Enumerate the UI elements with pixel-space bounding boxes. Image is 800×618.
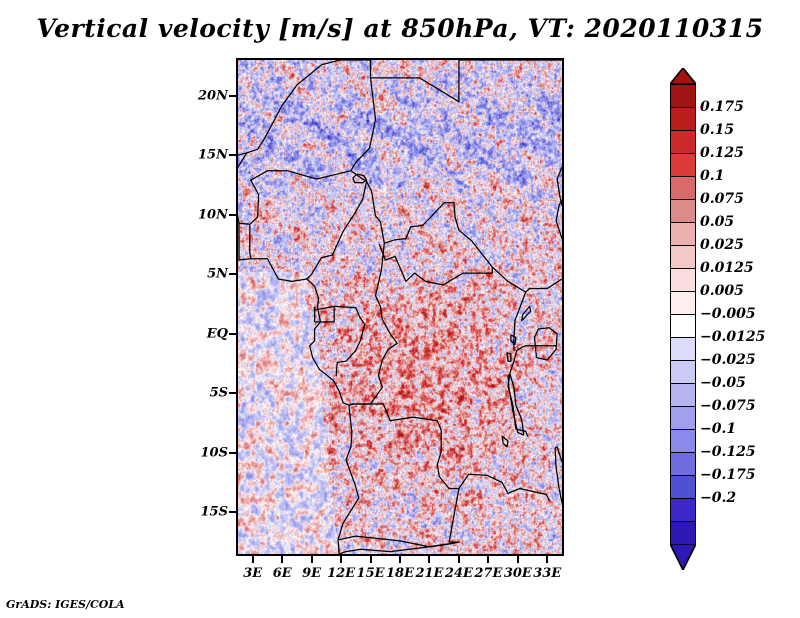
lat-tick-label: 5S [210, 386, 228, 401]
colorbar-swatch [670, 314, 696, 339]
colorbar-bottom-arrow [670, 544, 696, 570]
colorbar-label: 0.005 [700, 283, 744, 299]
lat-tick-label: EQ [207, 326, 228, 341]
lat-tick [229, 392, 236, 394]
page-title: Vertical velocity [m/s] at 850hPa, VT: 2… [0, 14, 800, 43]
colorbar-swatch [670, 383, 696, 408]
colorbar-label: 0.1 [700, 168, 724, 184]
colorbar-label: −0.025 [700, 352, 756, 368]
lon-tick [428, 556, 430, 563]
lon-tick [487, 556, 489, 563]
lon-tick-label: 24E [445, 566, 473, 581]
lon-tick-label: 21E [415, 566, 443, 581]
lon-tick-label: 12E [327, 566, 355, 581]
colorbar-swatch [670, 130, 696, 155]
colorbar-swatch [670, 498, 696, 523]
lat-tick [229, 333, 236, 335]
colorbar-swatch [670, 199, 696, 224]
grads-footer: GrADS: IGES/COLA [6, 598, 125, 611]
lon-tick [546, 556, 548, 563]
lon-tick [458, 556, 460, 563]
colorbar-label: −0.1 [700, 421, 736, 437]
colorbar-label: −0.175 [700, 467, 756, 483]
colorbar-swatch [670, 107, 696, 132]
colorbar-label: 0.025 [700, 237, 744, 253]
lon-tick-label: 18E [386, 566, 414, 581]
lat-tick [229, 511, 236, 513]
lon-tick [252, 556, 254, 563]
lon-tick-label: 33E [533, 566, 561, 581]
colorbar-swatch [670, 452, 696, 477]
lon-tick [517, 556, 519, 563]
lon-tick-label: 6E [273, 566, 292, 581]
lat-tick-label: 5N [207, 267, 228, 282]
lat-tick [229, 95, 236, 97]
lon-tick-label: 9E [302, 566, 321, 581]
colorbar-top-arrow [670, 68, 696, 85]
colorbar-swatch [670, 429, 696, 454]
colorbar-swatch [670, 475, 696, 500]
lon-tick [340, 556, 342, 563]
colorbar-label: 0.05 [700, 214, 734, 230]
lat-tick-label: 10N [198, 207, 228, 222]
lat-tick-label: 20N [198, 88, 228, 103]
map-plot-area [236, 58, 564, 556]
colorbar-label: 0.125 [700, 145, 744, 161]
colorbar-label: −0.005 [700, 306, 756, 322]
lat-tick-label: 10S [201, 445, 228, 460]
lat-tick-label: 15S [201, 505, 228, 520]
colorbar-swatch [670, 406, 696, 431]
lat-tick [229, 452, 236, 454]
colorbar-label: −0.125 [700, 444, 756, 460]
colorbar-label: −0.0125 [700, 329, 765, 345]
lon-tick-label: 3E [243, 566, 262, 581]
colorbar-swatch [670, 268, 696, 293]
lon-tick-label: 30E [504, 566, 532, 581]
lon-tick [281, 556, 283, 563]
colorbar-swatch [670, 245, 696, 270]
lon-tick [311, 556, 313, 563]
colorbar-label: 0.175 [700, 99, 744, 115]
lon-tick [399, 556, 401, 563]
lon-tick-label: 27E [474, 566, 502, 581]
colorbar-label: −0.05 [700, 375, 746, 391]
colorbar-swatch [670, 84, 696, 109]
colorbar-label: −0.075 [700, 398, 756, 414]
lat-tick [229, 214, 236, 216]
colorbar-swatch [670, 521, 696, 546]
colorbar: 0.1750.150.1250.10.0750.050.0250.01250.0… [670, 68, 696, 568]
lon-tick [370, 556, 372, 563]
colorbar-swatch [670, 337, 696, 362]
colorbar-swatch [670, 222, 696, 247]
colorbar-swatch [670, 153, 696, 178]
lat-tick-label: 15N [198, 148, 228, 163]
lat-tick [229, 273, 236, 275]
colorbar-swatch [670, 360, 696, 385]
colorbar-label: 0.0125 [700, 260, 754, 276]
colorbar-label: −0.2 [700, 490, 736, 506]
colorbar-label: 0.075 [700, 191, 744, 207]
colorbar-swatch [670, 176, 696, 201]
lon-tick-label: 15E [357, 566, 385, 581]
lat-tick [229, 154, 236, 156]
colorbar-label: 0.15 [700, 122, 734, 138]
map-frame [236, 58, 564, 556]
colorbar-swatch [670, 291, 696, 316]
